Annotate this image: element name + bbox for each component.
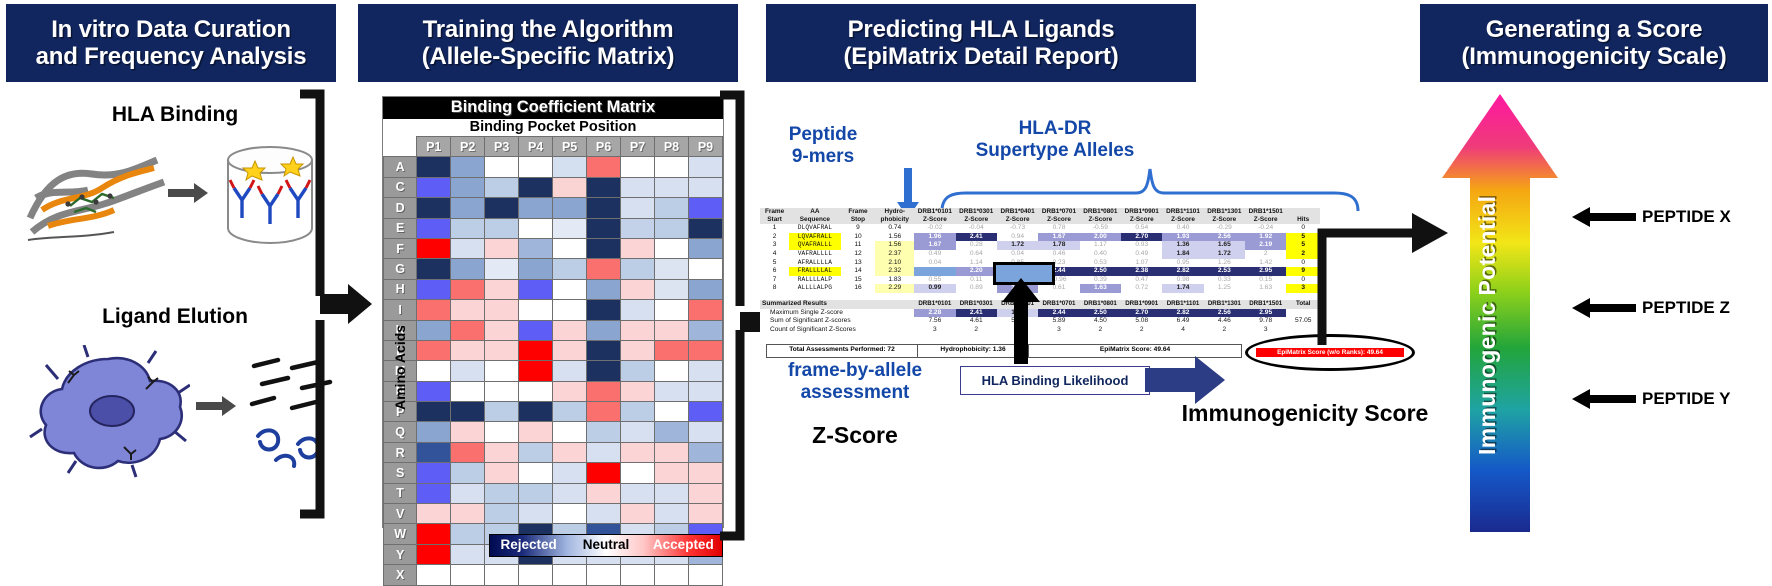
zscore-cell: 0.89 <box>956 284 997 293</box>
summary-title: Summarized Results <box>760 300 914 309</box>
matrix-cell <box>621 402 655 422</box>
zscore-cell: 2.82 <box>1162 267 1203 276</box>
zscore-cell: 1.93 <box>1162 233 1203 242</box>
matrix-row-header-F: F <box>384 238 417 258</box>
matrix-cell <box>451 218 485 238</box>
matrix-row: I <box>384 300 723 320</box>
summary-value-cell: 2.41 <box>956 309 997 318</box>
matrix-row-header-V: V <box>384 504 417 524</box>
zscore-cell: 1.14 <box>956 259 997 268</box>
zscore-cell: 0.93 <box>1121 241 1162 250</box>
zscore-cell: 1.65 <box>1204 241 1245 250</box>
ligand-elution-label: Ligand Elution <box>55 305 295 329</box>
hla-binding-likelihood-box: HLA Binding Likelihood <box>960 366 1150 395</box>
zscore-cell: 0.54 <box>1121 224 1162 233</box>
matrix-cell <box>451 340 485 360</box>
immunogenic-potential-label: Immunogenic Potential <box>1474 150 1526 500</box>
matrix-cell <box>655 402 689 422</box>
matrix-cell <box>553 157 587 177</box>
zscore-cell: 0.49 <box>914 250 955 259</box>
zscore-cell: 2.41 <box>956 233 997 242</box>
matrix-cell <box>688 565 722 585</box>
matrix-cell <box>587 238 621 258</box>
hydrophobicity-cell: 2.10 <box>875 259 914 268</box>
matrix-row-header-Q: Q <box>384 422 417 442</box>
matrix-subtitle: Binding Pocket Position <box>383 119 723 136</box>
matrix-col-header-P3: P3 <box>485 137 519 157</box>
matrix-cell <box>417 218 451 238</box>
matrix-cell <box>519 157 553 177</box>
matrix-cell <box>587 320 621 340</box>
matrix-cell <box>485 504 519 524</box>
zscore-cell: 1.25 <box>1204 284 1245 293</box>
summary-row-label: Sum of Significant Z-scores <box>760 317 914 326</box>
zscore-cell: 1.63 <box>1080 284 1121 293</box>
matrix-cell <box>485 483 519 503</box>
summary-col-header: DRB1*0801 <box>1080 300 1121 309</box>
matrix-col-header-P5: P5 <box>553 137 587 157</box>
zscore-cell: 1.78 <box>1038 241 1079 250</box>
zscore-cell: 0.33 <box>1204 276 1245 285</box>
zscore-cell: -0.59 <box>1080 224 1121 233</box>
matrix-cell <box>621 422 655 442</box>
matrix-cell <box>451 300 485 320</box>
zscore-cell: 1.36 <box>1162 241 1203 250</box>
hydrophobicity-cell: 1.83 <box>875 276 914 285</box>
matrix-cell <box>587 381 621 401</box>
matrix-cell <box>587 442 621 462</box>
matrix-cell <box>553 565 587 585</box>
frame-start-cell: 3 <box>760 241 789 250</box>
summary-value-cell: 2 <box>956 326 997 335</box>
matrix-cell <box>519 259 553 279</box>
matrix-cell <box>553 504 587 524</box>
matrix-row-header-C: C <box>384 177 417 197</box>
frame-start-cell: 7 <box>760 276 789 285</box>
zscore-label: Z-Score <box>760 422 950 449</box>
zscore-cell: 0.98 <box>1162 276 1203 285</box>
frame-start-cell: 2 <box>760 233 789 242</box>
matrix-row-header-S: S <box>384 463 417 483</box>
matrix-cell <box>621 259 655 279</box>
report-col-header: DRB1*0301Z-Score <box>956 208 997 224</box>
matrix-cell <box>519 340 553 360</box>
matrix-cell <box>417 524 451 544</box>
matrix-cell <box>485 442 519 462</box>
matrix-row: R <box>384 442 723 462</box>
matrix-cell <box>553 340 587 360</box>
hla-dr-supertype-callout: HLA-DR Supertype Alleles <box>930 118 1180 162</box>
matrix-row-header-E: E <box>384 218 417 238</box>
matrix-cell <box>417 340 451 360</box>
peptide-y-label: PEPTIDE Y <box>1642 389 1731 409</box>
matrix-col-header-P7: P7 <box>621 137 655 157</box>
frame-by-allele-line2: assessment <box>801 382 910 403</box>
matrix-cell <box>451 483 485 503</box>
matrix-cell <box>621 463 655 483</box>
report-row: 3QVAFRALLL111.561.670.281.721.781.170.93… <box>760 241 1320 250</box>
matrix-cell <box>451 402 485 422</box>
matrix-cell <box>553 320 587 340</box>
zscore-cell: 2.38 <box>1121 267 1162 276</box>
matrix-cell <box>417 565 451 585</box>
matrix-cell <box>417 279 451 299</box>
summary-col-header: DRB1*1101 <box>1162 300 1203 309</box>
zscore-cell: 0.94 <box>997 233 1038 242</box>
peptide-x-arrow-icon <box>1572 206 1636 228</box>
summary-row: Maximum Single Z-score2.282.411.932.442.… <box>760 309 1320 318</box>
zscore-cell: -0.29 <box>1204 224 1245 233</box>
legend-accepted: Accepted <box>645 535 722 556</box>
matrix-cell <box>485 320 519 340</box>
peptide-9mers-line1: Peptide <box>789 124 858 145</box>
matrix-cell <box>655 340 689 360</box>
zscore-cell: 0.61 <box>1038 284 1079 293</box>
matrix-cell <box>621 340 655 360</box>
zscore-cell: -0.04 <box>956 224 997 233</box>
matrix-cell <box>655 218 689 238</box>
zscore-cell: -0.73 <box>997 224 1038 233</box>
matrix-cell <box>655 565 689 585</box>
matrix-cell <box>587 218 621 238</box>
frame-stop-cell: 13 <box>841 259 876 268</box>
matrix-cell <box>655 238 689 258</box>
matrix-cell <box>485 565 519 585</box>
matrix-cell <box>485 402 519 422</box>
zscore-cell: 2.28 <box>914 267 955 276</box>
frame-stop-cell: 11 <box>841 241 876 250</box>
matrix-cell <box>655 483 689 503</box>
zscore-cell: 0.99 <box>914 284 955 293</box>
summary-value-cell: 7.56 <box>914 317 955 326</box>
matrix-cell <box>587 198 621 218</box>
matrix-y-axis-label: Amino Acids <box>392 290 408 410</box>
zscore-cell: 0.40 <box>1162 224 1203 233</box>
matrix-cell <box>485 198 519 218</box>
matrix-cell <box>587 483 621 503</box>
panel-header-2-line2: (Allele-Specific Matrix) <box>422 43 675 70</box>
matrix-cell <box>519 483 553 503</box>
zscore-cell: 0.46 <box>1038 250 1079 259</box>
zscore-cell: 0.72 <box>1121 284 1162 293</box>
matrix-cell <box>451 279 485 299</box>
summary-value-cell: 5.08 <box>1121 317 1162 326</box>
matrix-cell <box>587 463 621 483</box>
matrix-cell <box>485 340 519 360</box>
matrix-cell <box>553 300 587 320</box>
matrix-cell <box>553 422 587 442</box>
zscore-cell: 1.26 <box>1204 259 1245 268</box>
hydrophobicity-cell: 0.74 <box>875 224 914 233</box>
matrix-cell <box>621 320 655 340</box>
peptide-9mers-callout: Peptide 9-mers <box>768 124 878 168</box>
hla-binding-likelihood-label: HLA Binding Likelihood <box>982 373 1129 388</box>
matrix-row: L <box>384 340 723 360</box>
summary-value-cell: 3 <box>1038 326 1079 335</box>
matrix-cell <box>519 463 553 483</box>
matrix-cell <box>587 361 621 381</box>
matrix-cell <box>417 157 451 177</box>
matrix-cell <box>655 381 689 401</box>
matrix-cell <box>655 361 689 381</box>
matrix-row-header-X: X <box>384 565 417 585</box>
matrix-cell <box>553 238 587 258</box>
hydrophobicity-cell: 2.37 <box>875 250 914 259</box>
immunogenicity-score-label: Immunogenicity Score <box>1140 400 1470 427</box>
matrix-row: H <box>384 279 723 299</box>
zscore-cell: 0.28 <box>956 241 997 250</box>
matrix-cell <box>519 320 553 340</box>
zscore-cell: 0.95 <box>1162 259 1203 268</box>
summary-col-header: DRB1*0901 <box>1121 300 1162 309</box>
matrix-cell <box>519 218 553 238</box>
peptide-y-arrow-icon <box>1572 388 1636 410</box>
summary-value-cell: 2.44 <box>1038 309 1079 318</box>
matrix-cell <box>655 300 689 320</box>
frame-stop-cell: 14 <box>841 267 876 276</box>
matrix-cell <box>587 402 621 422</box>
matrix-cell <box>621 218 655 238</box>
hla-binding-label: HLA Binding <box>60 103 290 127</box>
matrix-cell <box>451 565 485 585</box>
matrix-cell <box>587 422 621 442</box>
matrix-row: D <box>384 198 723 218</box>
matrix-row: E <box>384 218 723 238</box>
report-row: 8ALLLLALPG162.290.990.891.810.611.630.72… <box>760 284 1320 293</box>
matrix-row: P <box>384 402 723 422</box>
matrix-legend: Rejected Neutral Accepted <box>489 534 723 557</box>
frame-stop-cell: 12 <box>841 250 876 259</box>
matrix-cell <box>451 259 485 279</box>
summary-value-cell: 2.82 <box>1162 309 1203 318</box>
matrix-cell <box>587 157 621 177</box>
matrix-cell <box>417 177 451 197</box>
summary-value-cell: 6.49 <box>1162 317 1203 326</box>
summary-value-cell: 2 <box>1204 326 1245 335</box>
matrix-row: T <box>384 483 723 503</box>
aa-sequence-cell: QVAFRALLL <box>789 241 840 250</box>
matrix-cell <box>621 565 655 585</box>
matrix-cell <box>485 157 519 177</box>
matrix-row-header-G: G <box>384 259 417 279</box>
matrix-cell <box>621 279 655 299</box>
frame-stop-cell: 10 <box>841 233 876 242</box>
matrix-cell <box>417 483 451 503</box>
summary-value-cell: 2.70 <box>1121 309 1162 318</box>
summary-col-header: DRB1*0301 <box>956 300 997 309</box>
matrix-cell <box>417 504 451 524</box>
matrix-row-header-A: A <box>384 157 417 177</box>
antigen-presenting-cell-illustration <box>28 345 190 480</box>
matrix-col-header-P6: P6 <box>587 137 621 157</box>
matrix-cell <box>655 177 689 197</box>
frame-start-cell: 5 <box>760 259 789 268</box>
matrix-row: S <box>384 463 723 483</box>
matrix-row: X <box>384 565 723 585</box>
zscore-cell: 0.40 <box>1080 250 1121 259</box>
matrix-cell <box>655 442 689 462</box>
matrix-cell <box>553 381 587 401</box>
matrix-cell <box>655 504 689 524</box>
aa-sequence-cell: FRALLLLAL <box>789 267 840 276</box>
hla-binding-likelihood-arrow-icon <box>1145 356 1225 404</box>
matrix-cell <box>655 198 689 218</box>
summary-value-cell: 2 <box>1121 326 1162 335</box>
immunogenic-potential-text: Immunogenic Potential <box>1474 195 1500 454</box>
matrix-cell <box>553 483 587 503</box>
frame-start-cell: 4 <box>760 250 789 259</box>
summary-value-cell: 4 <box>1162 326 1203 335</box>
summary-row-label: Count of Significant Z-Scores <box>760 326 914 335</box>
matrix-cell <box>417 320 451 340</box>
supertype-line2: Supertype Alleles <box>976 140 1135 161</box>
zscore-cell: 0.53 <box>1080 259 1121 268</box>
zscore-cell: 1.72 <box>1204 250 1245 259</box>
matrix-row: Q <box>384 422 723 442</box>
matrix-cell <box>553 442 587 462</box>
matrix-cell <box>519 381 553 401</box>
matrix-cell <box>519 402 553 422</box>
matrix-cell <box>417 422 451 442</box>
frame-by-allele-arrow-icon <box>1002 276 1040 364</box>
matrix-cell <box>587 565 621 585</box>
matrix-cell <box>417 198 451 218</box>
report-col-header: DRB1*0101Z-Score <box>914 208 955 224</box>
matrix-cell <box>519 300 553 320</box>
summary-col-header: DRB1*1301 <box>1204 300 1245 309</box>
zscore-cell: -0.02 <box>914 224 955 233</box>
summary-row: Sum of Significant Z-scores7.564.615.465… <box>760 317 1320 326</box>
report-row: 2LQVAFRALL101.561.962.410.941.672.002.70… <box>760 233 1320 242</box>
aa-sequence-cell: VAFRALLLL <box>789 250 840 259</box>
matrix-cell <box>417 238 451 258</box>
panel-header-2-line1: Training the Algorithm <box>422 16 675 43</box>
matrix-cell <box>655 463 689 483</box>
matrix-cell <box>621 238 655 258</box>
zscore-cell: 0.04 <box>997 250 1038 259</box>
binding-coefficient-matrix: Binding Coefficient Matrix Binding Pocke… <box>382 96 724 528</box>
matrix-cell <box>451 177 485 197</box>
matrix-cell <box>485 422 519 442</box>
hla-binding-arrow-icon <box>168 182 208 204</box>
summary-row-label: Maximum Single Z-score <box>760 309 914 318</box>
report-row: 4VAFRALLLL122.370.490.640.040.460.400.49… <box>760 250 1320 259</box>
panel-header-4: Generating a Score (Immunogenicity Scale… <box>1420 4 1768 82</box>
hydrophobicity-cell: 1.56 <box>875 241 914 250</box>
matrix-row-header-Y: Y <box>384 544 417 564</box>
matrix-cell <box>485 238 519 258</box>
matrix-cell <box>451 381 485 401</box>
zscore-cell: 0.11 <box>956 276 997 285</box>
matrix-cell <box>451 157 485 177</box>
matrix-cell <box>587 300 621 320</box>
summary-value-cell: 4.46 <box>1204 317 1245 326</box>
matrix-cell <box>417 381 451 401</box>
frame-start-cell: 8 <box>760 284 789 293</box>
panel-header-2: Training the Algorithm (Allele-Specific … <box>358 4 738 82</box>
summary-col-header: DRB1*0101 <box>914 300 955 309</box>
aa-sequence-cell: ALLLLALPG <box>789 284 840 293</box>
hydrophobicity-cell: 2.32 <box>875 267 914 276</box>
matrix-cell <box>485 463 519 483</box>
matrix-cell <box>621 483 655 503</box>
matrix-cell <box>587 504 621 524</box>
peptide-z-label: PEPTIDE Z <box>1642 298 1730 318</box>
zscore-cell: 2.00 <box>1080 233 1121 242</box>
report-spacer-row <box>760 293 1320 300</box>
summary-header-row: Summarized ResultsDRB1*0101DRB1*0301DRB1… <box>760 300 1320 309</box>
report-col-header: FrameStart <box>760 208 789 224</box>
aa-sequence-cell: RALLLLALP <box>789 276 840 285</box>
matrix-cell <box>621 361 655 381</box>
zscore-cell: 1.67 <box>914 241 955 250</box>
frame-start-cell: 1 <box>760 224 789 233</box>
zscore-cell: 2.70 <box>1121 233 1162 242</box>
report-col-header: AASequence <box>789 208 840 224</box>
frame-stop-cell: 9 <box>841 224 876 233</box>
matrix-row: A <box>384 157 723 177</box>
report-col-header: Hydro-phobicity <box>875 208 914 224</box>
report-col-header: DRB1*1101Z-Score <box>1162 208 1203 224</box>
zscore-cell: 0.78 <box>1038 224 1079 233</box>
frame-stop-cell: 16 <box>841 284 876 293</box>
matrix-cell <box>519 279 553 299</box>
zscore-cell: 2.53 <box>1204 267 1245 276</box>
matrix-cell <box>451 422 485 442</box>
matrix-col-header-P2: P2 <box>451 137 485 157</box>
matrix-cell <box>553 177 587 197</box>
panel-header-1-line2: and Frequency Analysis <box>36 43 307 70</box>
matrix-cell <box>519 177 553 197</box>
matrix-cell <box>451 238 485 258</box>
matrix-cell <box>417 442 451 462</box>
frame-by-allele-label: frame-by-allele assessment <box>760 360 950 404</box>
hla-protein-structure-icon <box>22 140 172 250</box>
matrix-cell <box>519 198 553 218</box>
zscore-cell: 1.17 <box>1080 241 1121 250</box>
matrix-cell <box>519 238 553 258</box>
matrix-cell <box>451 361 485 381</box>
report-col-header: DRB1*0401Z-Score <box>997 208 1038 224</box>
matrix-row: M <box>384 361 723 381</box>
matrix-cell <box>519 422 553 442</box>
matrix-cell <box>417 259 451 279</box>
matrix-cell <box>621 381 655 401</box>
matrix-col-header-P1: P1 <box>417 137 451 157</box>
zscore-cell: 2.50 <box>1080 267 1121 276</box>
summary-value-cell: 2.56 <box>1204 309 1245 318</box>
zscore-cell: 1.72 <box>997 241 1038 250</box>
zscore-cell: 0.39 <box>1080 276 1121 285</box>
matrix-cell <box>621 300 655 320</box>
supertype-line1: HLA-DR <box>1019 118 1092 139</box>
summary-value-cell: 4.50 <box>1080 317 1121 326</box>
summary-value-cell: 3 <box>914 326 955 335</box>
matrix-cell <box>451 463 485 483</box>
matrix-row: K <box>384 320 723 340</box>
matrix-cell <box>417 544 451 564</box>
matrix-cell <box>485 300 519 320</box>
matrix-row: G <box>384 259 723 279</box>
matrix-cell <box>621 177 655 197</box>
matrix-title: Binding Coefficient Matrix <box>383 97 723 119</box>
matrix-cell <box>553 198 587 218</box>
legend-rejected: Rejected <box>490 535 567 556</box>
summary-value-cell: 2.28 <box>914 309 955 318</box>
matrix-cell <box>587 259 621 279</box>
matrix-cell <box>621 442 655 462</box>
aa-sequence-cell: LQVAFRALL <box>789 233 840 242</box>
